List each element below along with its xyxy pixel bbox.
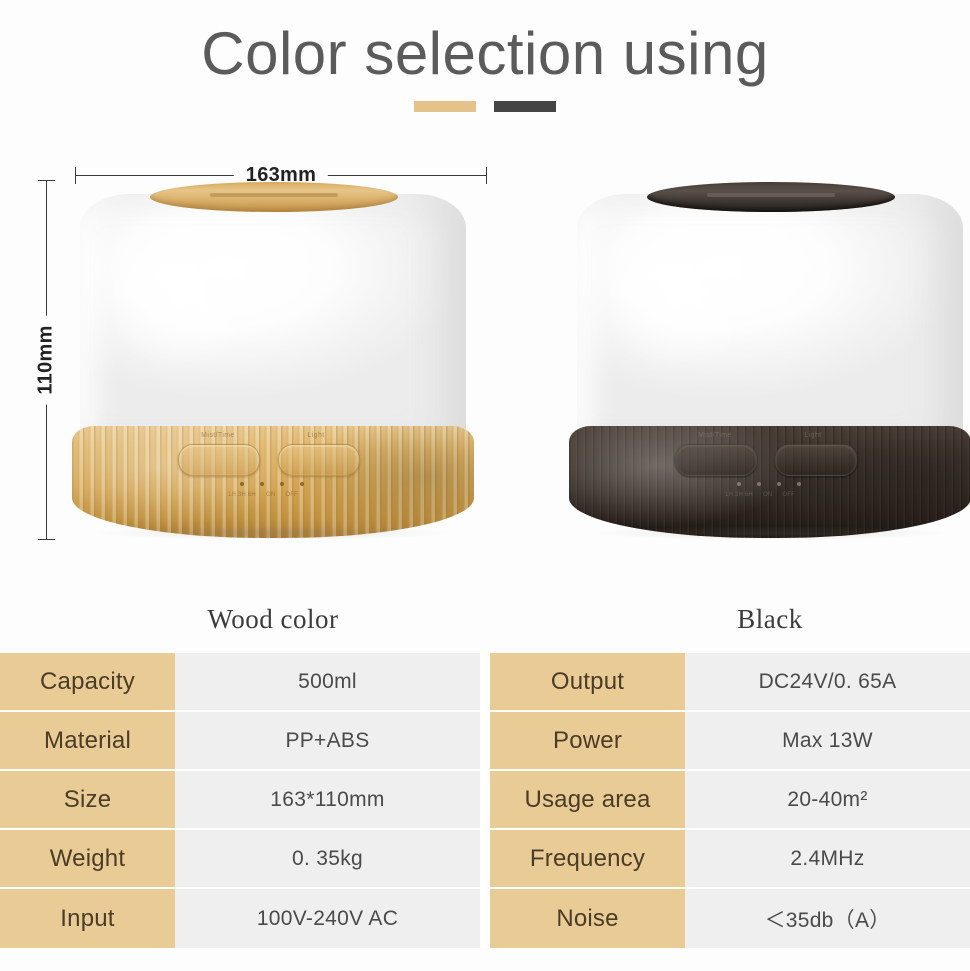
spec-label: Noise	[490, 889, 685, 948]
control-button-labels: Mist/Time Light	[675, 432, 865, 439]
spec-value: 20-40m²	[685, 771, 970, 828]
control-button-labels: Mist/Time Light	[178, 432, 368, 439]
indicator-dot	[280, 482, 284, 486]
spec-label: Frequency	[490, 830, 685, 887]
table-row: Frequency 2.4MHz	[485, 830, 970, 889]
spec-value: 0. 35kg	[175, 830, 480, 887]
indicator-dots	[240, 482, 304, 486]
product-stage: 163mm 110mm Mist/Time Light	[0, 132, 970, 653]
indicator-labels: 1H 3H 6H ON OFF	[725, 492, 795, 498]
spec-column-left: Capacity 500ml Material PP+ABS Size 163*…	[0, 653, 485, 949]
indicator-dot	[757, 482, 761, 486]
header: Color selection using	[0, 0, 970, 132]
page-title: Color selection using	[0, 22, 970, 85]
light-button	[775, 444, 857, 476]
on-indicator-label: ON	[266, 492, 275, 498]
indicator-dot	[300, 482, 304, 486]
drop-shadow	[595, 526, 945, 540]
diffuser-lid-icon	[647, 182, 895, 212]
table-row: Capacity 500ml	[0, 653, 485, 712]
product-black: Mist/Time Light 1H 3H 6H ON OFF	[565, 180, 970, 552]
spec-label: Output	[490, 653, 685, 710]
off-indicator-label: OFF	[285, 492, 298, 498]
mist-outlet-slot	[210, 193, 339, 197]
mist-button-label: Mist/Time	[178, 432, 258, 439]
black-swatch	[494, 101, 556, 112]
spec-label: Weight	[0, 830, 175, 887]
indicator-labels: 1H 3H 6H ON OFF	[228, 492, 298, 498]
timer-indicator-label: 1H 3H 6H	[725, 492, 753, 498]
diffuser-lid-icon	[150, 182, 398, 212]
spec-label: Size	[0, 771, 175, 828]
mist-time-button	[178, 444, 260, 476]
table-row: Size 163*110mm	[0, 771, 485, 830]
spec-label: Material	[0, 712, 175, 769]
mist-outlet-slot	[707, 193, 836, 197]
diffuser-dome	[80, 194, 466, 458]
light-button-label: Light	[276, 432, 356, 439]
timer-indicator-label: 1H 3H 6H	[228, 492, 256, 498]
control-buttons	[675, 444, 857, 476]
control-buttons	[178, 444, 360, 476]
indicator-dot	[777, 482, 781, 486]
spec-value: PP+ABS	[175, 712, 480, 769]
spec-label: Input	[0, 889, 175, 948]
mist-button-label: Mist/Time	[675, 432, 755, 439]
off-indicator-label: OFF	[782, 492, 795, 498]
indicator-dot	[797, 482, 801, 486]
table-row: Output DC24V/0. 65A	[485, 653, 970, 712]
diffuser-dome	[577, 194, 963, 458]
dimension-endcap-bottom	[38, 539, 55, 540]
light-button-label: Light	[773, 432, 853, 439]
spec-value: 100V-240V AC	[175, 889, 480, 948]
specifications-table: Capacity 500ml Material PP+ABS Size 163*…	[0, 653, 970, 949]
indicator-dots	[737, 482, 801, 486]
spec-value: 2.4MHz	[685, 830, 970, 887]
table-row: Material PP+ABS	[0, 712, 485, 771]
product-caption-wood: Wood color	[68, 604, 478, 635]
product-wood: Mist/Time Light 1H 3H 6H ON OFF	[68, 180, 478, 552]
color-swatch-row	[0, 101, 970, 112]
indicator-dot	[260, 482, 264, 486]
spec-label: Power	[490, 712, 685, 769]
table-row: Usage area 20-40m²	[485, 771, 970, 830]
height-dimension-label: 110mm	[32, 315, 61, 404]
spec-value: 500ml	[175, 653, 480, 710]
table-row: Weight 0. 35kg	[0, 830, 485, 889]
drop-shadow	[98, 526, 448, 540]
height-dimension-line: 110mm	[35, 180, 57, 540]
mist-time-button	[675, 444, 757, 476]
control-panel-wood: Mist/Time Light 1H 3H 6H ON OFF	[178, 432, 368, 518]
on-indicator-label: ON	[763, 492, 772, 498]
spec-value: Max 13W	[685, 712, 970, 769]
wood-swatch	[414, 101, 476, 112]
dimension-endcap-right	[486, 167, 487, 184]
table-row: Noise ＜35db（A）	[485, 889, 970, 948]
spec-value: ＜35db（A）	[685, 889, 970, 948]
light-button	[278, 444, 360, 476]
spec-value: 163*110mm	[175, 771, 480, 828]
spec-label: Capacity	[0, 653, 175, 710]
indicator-dot	[737, 482, 741, 486]
spec-column-right: Output DC24V/0. 65A Power Max 13W Usage …	[485, 653, 970, 949]
indicator-dot	[240, 482, 244, 486]
table-row: Power Max 13W	[485, 712, 970, 771]
product-caption-black: Black	[565, 604, 970, 635]
table-row: Input 100V-240V AC	[0, 889, 485, 948]
diffuser-illustration-black: Mist/Time Light 1H 3H 6H ON OFF	[565, 180, 970, 540]
spec-value: DC24V/0. 65A	[685, 653, 970, 710]
spec-label: Usage area	[490, 771, 685, 828]
control-panel-black: Mist/Time Light 1H 3H 6H ON OFF	[675, 432, 865, 518]
diffuser-illustration-wood: Mist/Time Light 1H 3H 6H ON OFF	[68, 180, 478, 540]
dimension-endcap-top	[38, 180, 55, 181]
